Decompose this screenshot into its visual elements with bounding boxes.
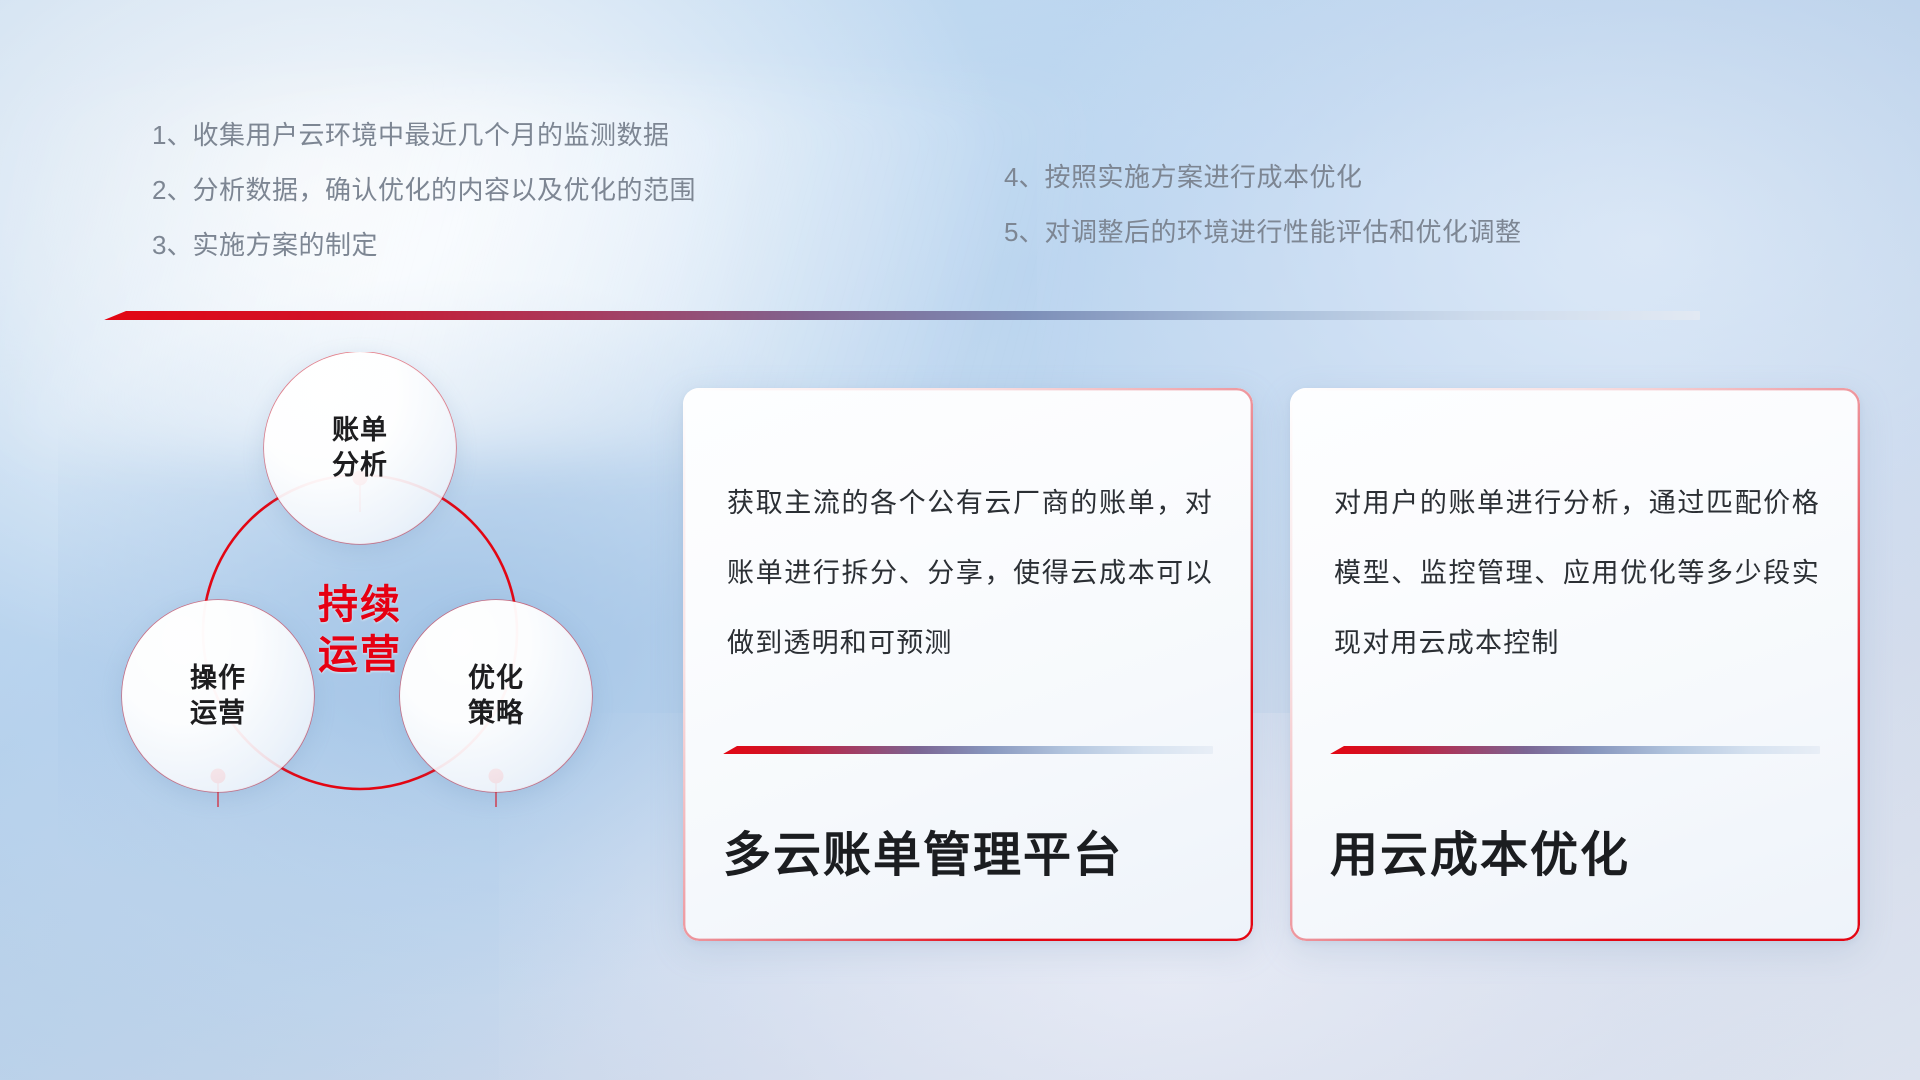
feature-card-cloud-cost-optimization[interactable]: 对用户的账单进行分析，通过匹配价格模型、监控管理、应用优化等多少段实现对用云成本… (1290, 388, 1860, 941)
card-title: 多云账单管理平台 (723, 826, 1223, 886)
card-title: 用云成本优化 (1330, 826, 1830, 886)
card-accent-rule (723, 746, 1213, 754)
card-description: 对用户的账单进行分析，通过匹配价格模型、监控管理、应用优化等多少段实现对用云成本… (1334, 468, 1820, 678)
card-description: 获取主流的各个公有云厂商的账单，对账单进行拆分、分享，使得云成本可以做到透明和可… (727, 468, 1213, 678)
card-accent-rule (1330, 746, 1820, 754)
feature-cards: 获取主流的各个公有云厂商的账单，对账单进行拆分、分享，使得云成本可以做到透明和可… (0, 0, 1920, 1080)
feature-card-multicloud-billing[interactable]: 获取主流的各个公有云厂商的账单，对账单进行拆分、分享，使得云成本可以做到透明和可… (683, 388, 1253, 941)
